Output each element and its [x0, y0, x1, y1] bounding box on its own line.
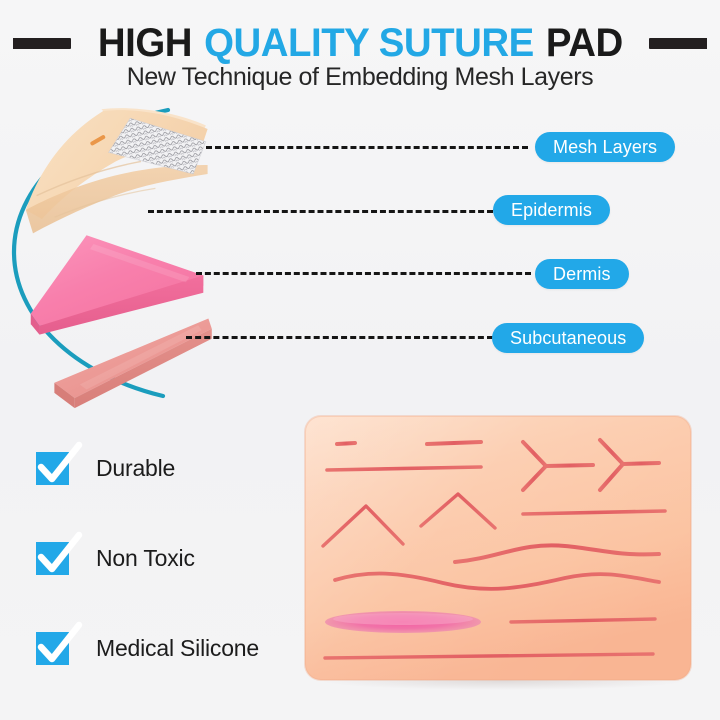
- layer-epidermis: [12, 102, 234, 246]
- label-subcutaneous[interactable]: Subcutaneous: [492, 323, 644, 353]
- title-word-1: HIGH: [98, 21, 192, 65]
- label-dermis-text: Dermis: [553, 264, 611, 285]
- feature-item-durable: Durable: [36, 448, 175, 488]
- leader-line-epidermis: [148, 210, 493, 213]
- leader-line-subcutaneous: [186, 336, 493, 339]
- checkmark-icon: [36, 542, 69, 575]
- layer-subcutaneous: [38, 310, 240, 420]
- label-mesh-layers-text: Mesh Layers: [553, 137, 657, 158]
- label-epidermis[interactable]: Epidermis: [493, 195, 610, 225]
- leader-line-mesh: [206, 146, 528, 149]
- title-row: HIGH QUALITY SUTURE PAD: [0, 22, 720, 64]
- skin-layer-diagram: [0, 96, 340, 408]
- label-mesh-layers[interactable]: Mesh Layers: [535, 132, 675, 162]
- feature-label: Non Toxic: [96, 545, 195, 572]
- feature-label: Medical Silicone: [96, 635, 259, 662]
- leader-line-dermis: [196, 272, 531, 275]
- title-rule-right: [649, 38, 707, 49]
- page-title: HIGH QUALITY SUTURE PAD: [98, 23, 623, 63]
- title-rule-left: [13, 38, 71, 49]
- title-word-2: QUALITY SUTURE: [204, 21, 534, 65]
- feature-item-non-toxic: Non Toxic: [36, 538, 195, 578]
- checkmark-icon: [36, 632, 69, 665]
- label-dermis[interactable]: Dermis: [535, 259, 629, 289]
- suture-pad-photo: [303, 410, 703, 695]
- feature-label: Durable: [96, 455, 175, 482]
- infographic-page: HIGH QUALITY SUTURE PAD New Technique of…: [0, 0, 720, 720]
- label-subcutaneous-text: Subcutaneous: [510, 328, 626, 349]
- page-subtitle: New Technique of Embedding Mesh Layers: [0, 63, 720, 92]
- suture-pad-surface: [303, 410, 703, 695]
- title-word-3: PAD: [546, 21, 623, 65]
- label-epidermis-text: Epidermis: [511, 200, 592, 221]
- checkmark-icon: [36, 452, 69, 485]
- feature-item-medical-silicone: Medical Silicone: [36, 628, 259, 668]
